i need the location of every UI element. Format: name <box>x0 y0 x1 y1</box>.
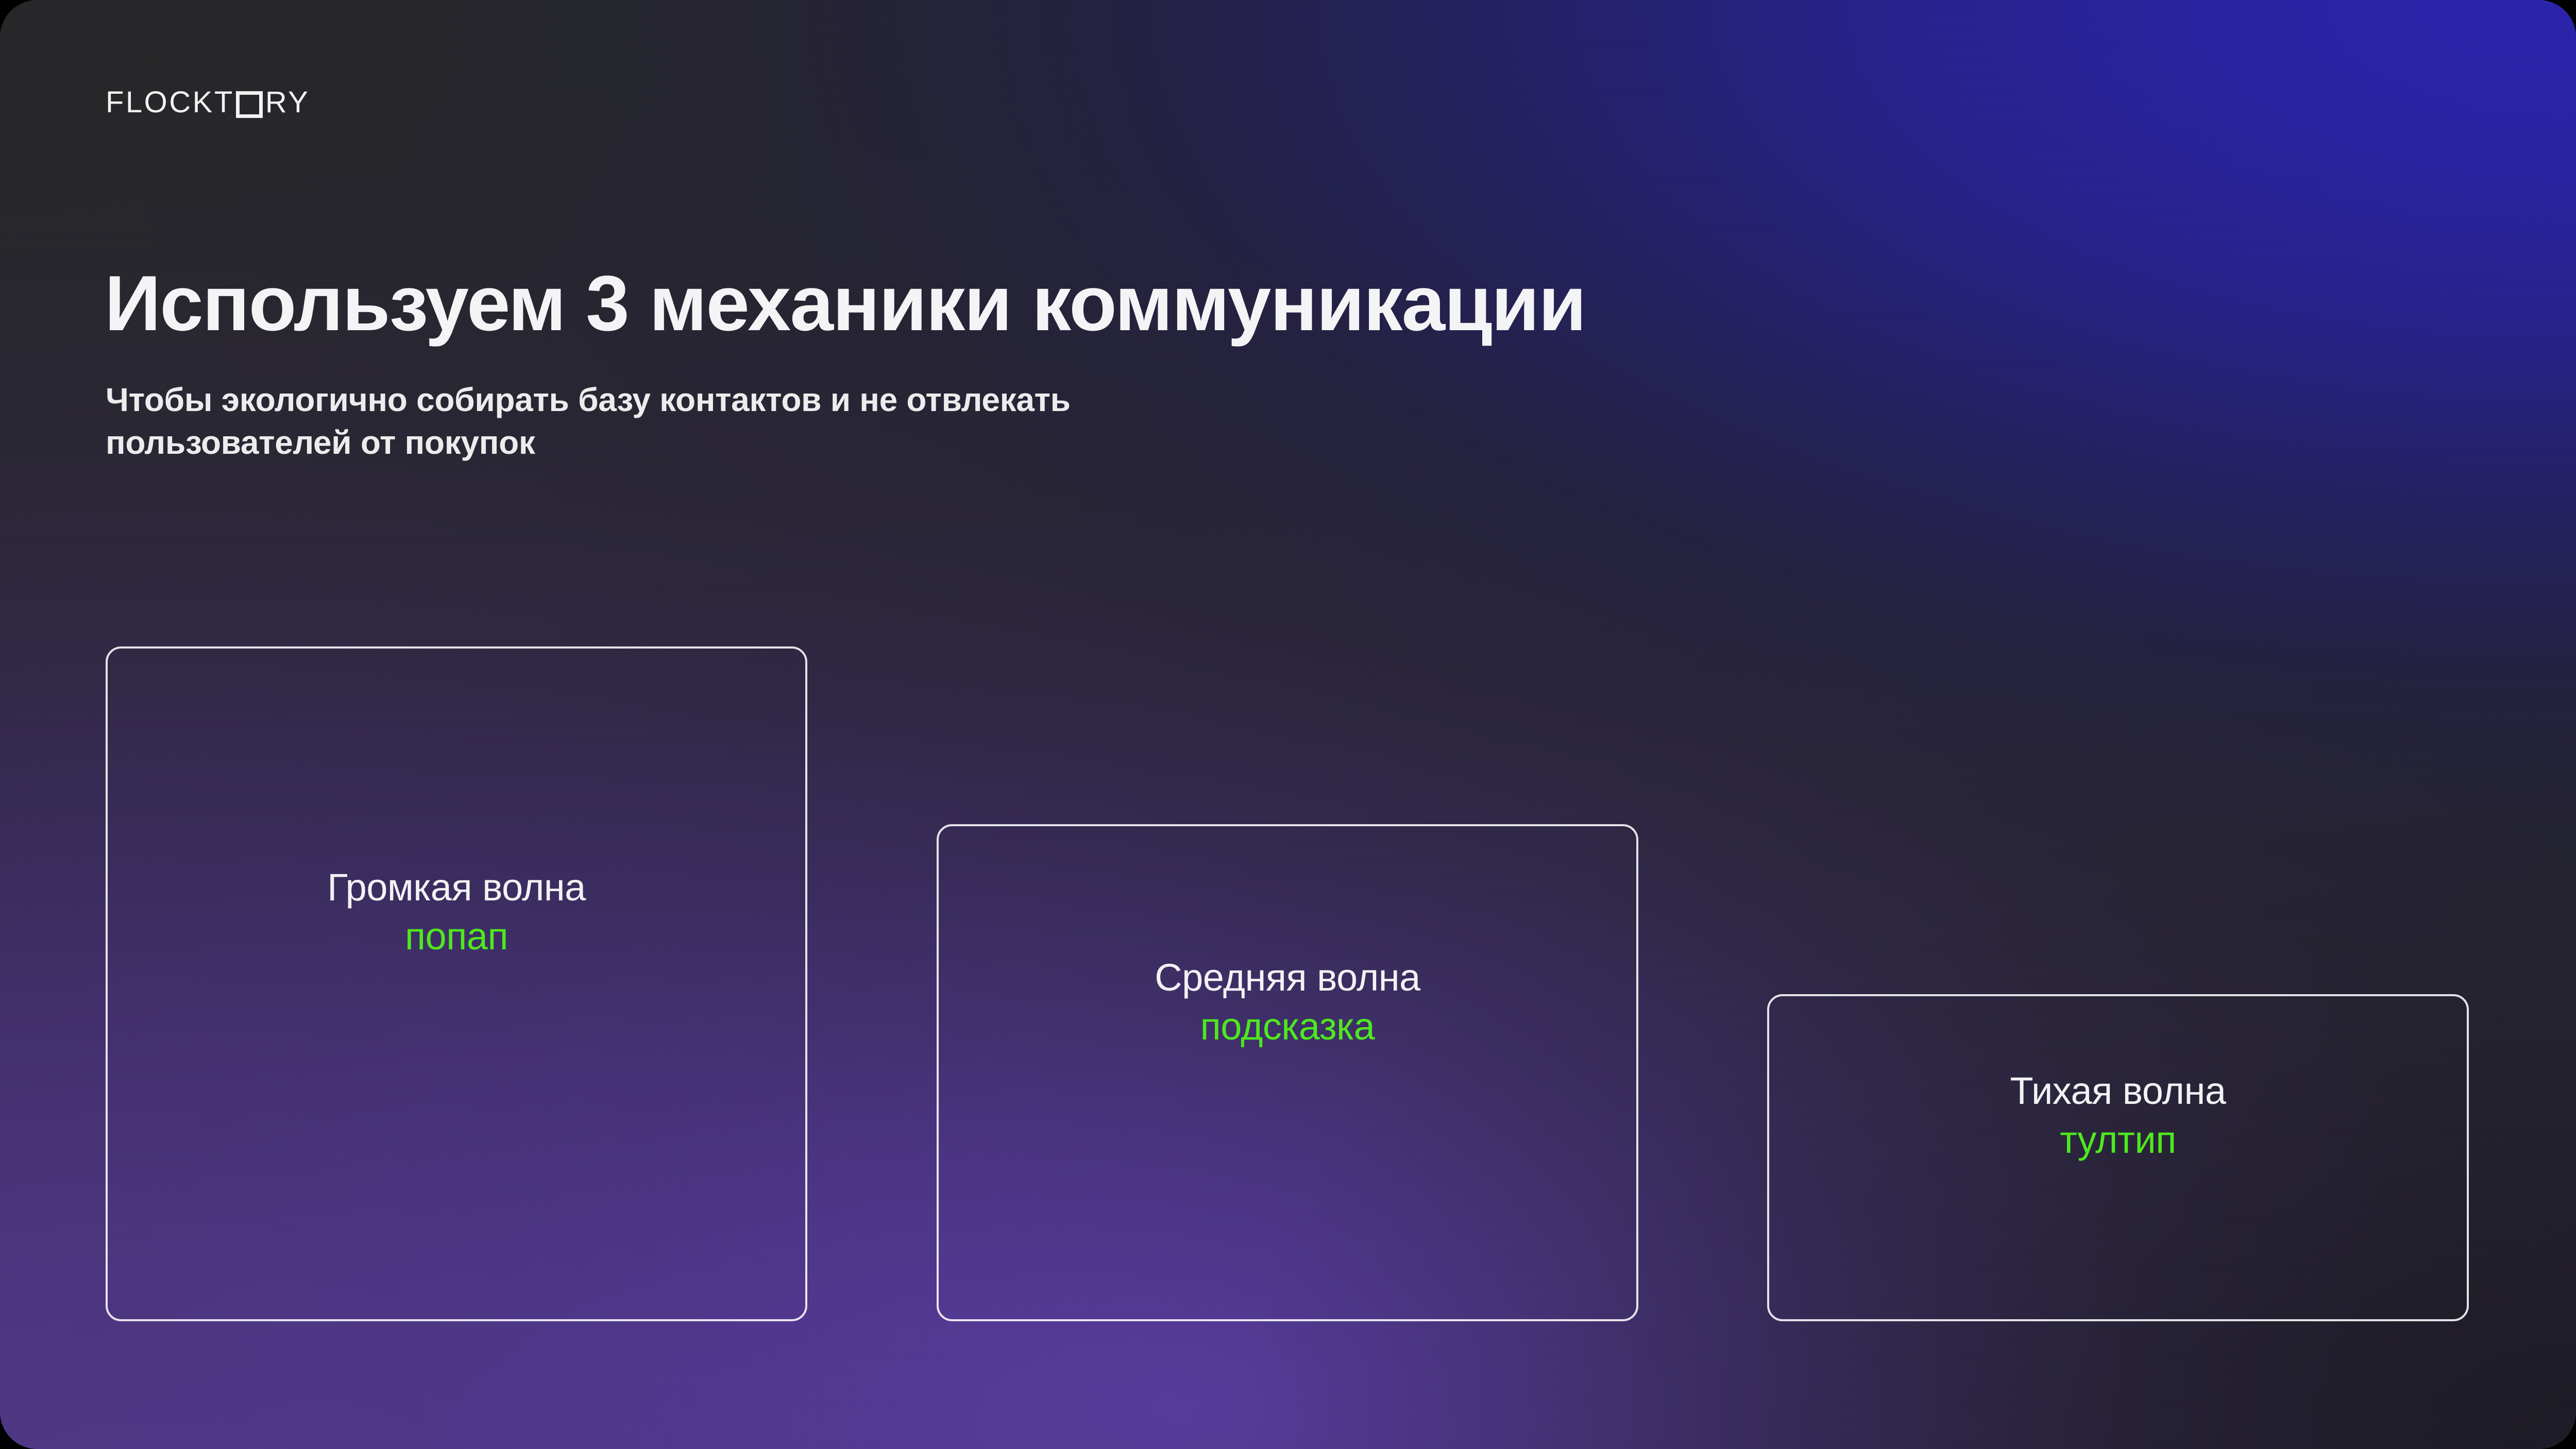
subtitle-line-2: пользователей от покупок <box>106 421 1071 464</box>
card-loud-wave-content: Громкая волна попап <box>108 865 805 959</box>
card-loud-wave-tag: попап <box>405 914 508 959</box>
card-medium-wave-title: Средняя волна <box>1155 955 1420 1000</box>
subtitle-line-1: Чтобы экологично собирать базу контактов… <box>106 379 1071 421</box>
page-subtitle: Чтобы экологично собирать базу контактов… <box>106 379 1071 464</box>
logo-text-suffix: RY <box>265 88 310 117</box>
card-medium-wave-content: Средняя волна подсказка <box>939 955 1636 1049</box>
card-quiet-wave-tag: тултип <box>2060 1117 2176 1162</box>
card-quiet-wave-title: Тихая волна <box>2010 1068 2226 1113</box>
logo-text-prefix: FLOCKT <box>106 88 234 117</box>
card-medium-wave-tag: подсказка <box>1200 1004 1375 1049</box>
card-loud-wave[interactable]: Громкая волна попап <box>106 646 807 1321</box>
slide-content: FLOCKT RY Используем 3 механики коммуник… <box>0 0 2576 1449</box>
flocktory-logo: FLOCKT RY <box>106 84 310 121</box>
slide: FLOCKT RY Используем 3 механики коммуник… <box>0 0 2576 1449</box>
card-quiet-wave[interactable]: Тихая волна тултип <box>1767 994 2469 1321</box>
card-quiet-wave-content: Тихая волна тултип <box>1769 1068 2467 1163</box>
page-title: Используем 3 механики коммуникации <box>105 263 1585 344</box>
card-medium-wave[interactable]: Средняя волна подсказка <box>937 824 1638 1321</box>
card-loud-wave-title: Громкая волна <box>327 865 586 910</box>
logo-square-icon <box>236 91 263 118</box>
